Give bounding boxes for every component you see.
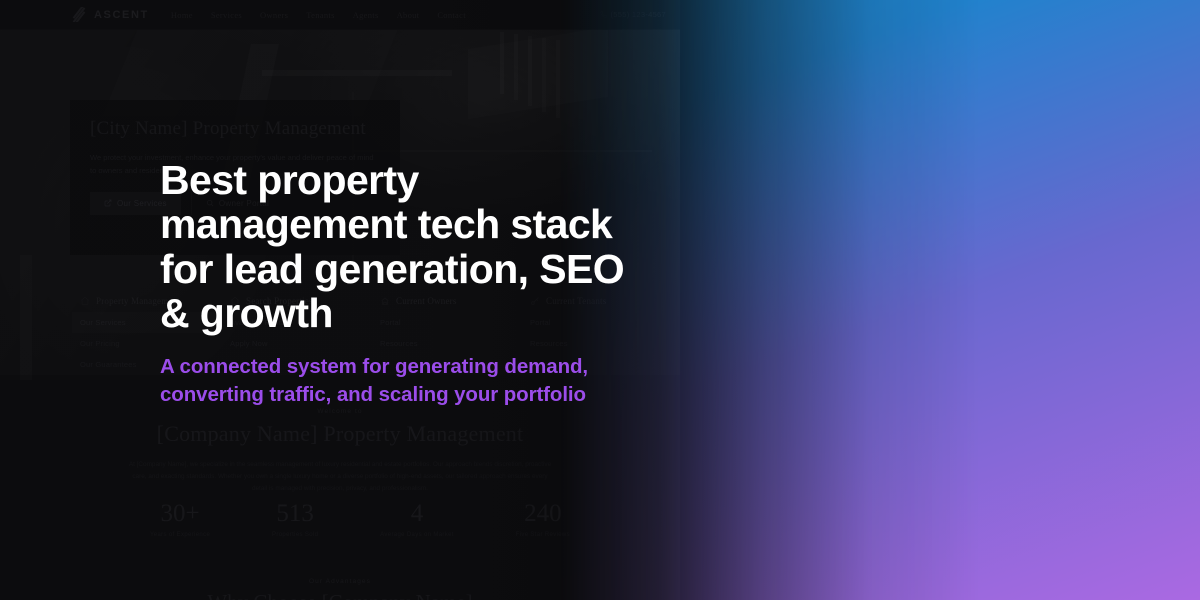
home-icon [80, 296, 90, 306]
hero-screenshot-canvas: ASCENT Home Services Owners Tenants Agen… [0, 0, 1200, 600]
external-link-icon [104, 199, 112, 207]
stat-years-of-experience: 30+ Years of Experience [150, 500, 210, 538]
stat-value: 30+ [150, 500, 210, 528]
stats-row: 30+ Years of Experience 513 Properties S… [150, 500, 570, 538]
brand-logo[interactable]: ASCENT [72, 7, 149, 22]
site-navbar: ASCENT Home Services Owners Tenants Agen… [0, 0, 680, 30]
nav-phone[interactable]: (555) 123-4567 [600, 10, 667, 19]
nav-item-home[interactable]: Home [171, 10, 193, 20]
welcome-title: [Company Name] Property Management [90, 421, 590, 447]
stat-value: 4 [380, 500, 454, 528]
stat-label: Properties Sold [272, 532, 318, 538]
nav-links: Home Services Owners Tenants Agents Abou… [171, 10, 466, 20]
phone-icon [600, 11, 607, 18]
stat-label: Average Days on Market [380, 532, 454, 538]
stat-properties-sold: 513 Properties Sold [272, 500, 318, 538]
overlay-subheadline: A connected system for generating demand… [160, 353, 650, 410]
diagonal-lines-logo-icon [72, 7, 88, 22]
welcome-section: Welcome to [Company Name] Property Manag… [0, 408, 680, 495]
advantages-section: Our Advantages Why Choose [Company Name] [0, 578, 680, 600]
nav-item-services[interactable]: Services [211, 10, 242, 20]
brand-name: ASCENT [94, 9, 149, 21]
welcome-body: At [Company Name], we specialize in the … [125, 459, 555, 495]
nav-item-agents[interactable]: Agents [353, 10, 379, 20]
stat-five-star-reviews: 240 Five Star Reviews [516, 500, 570, 538]
stat-value: 240 [516, 500, 570, 528]
hero-title: [City Name] Property Management [90, 118, 380, 140]
stat-value: 513 [272, 500, 318, 528]
overlay-headline: Best property management tech stack for … [160, 158, 660, 335]
nav-item-tenants[interactable]: Tenants [306, 10, 334, 20]
nav-item-about[interactable]: About [397, 10, 420, 20]
stat-average-days-on-market: 4 Average Days on Market [380, 500, 454, 538]
nav-item-owners[interactable]: Owners [260, 10, 288, 20]
nav-phone-number: (555) 123-4567 [611, 10, 667, 19]
advantages-kicker: Our Advantages [0, 578, 680, 585]
overlay-text-block: Best property management tech stack for … [160, 158, 660, 410]
stat-label: Years of Experience [150, 532, 210, 538]
nav-item-contact[interactable]: Contact [437, 10, 466, 20]
stat-label: Five Star Reviews [516, 532, 570, 538]
advantages-title: Why Choose [Company Name] [0, 590, 680, 600]
